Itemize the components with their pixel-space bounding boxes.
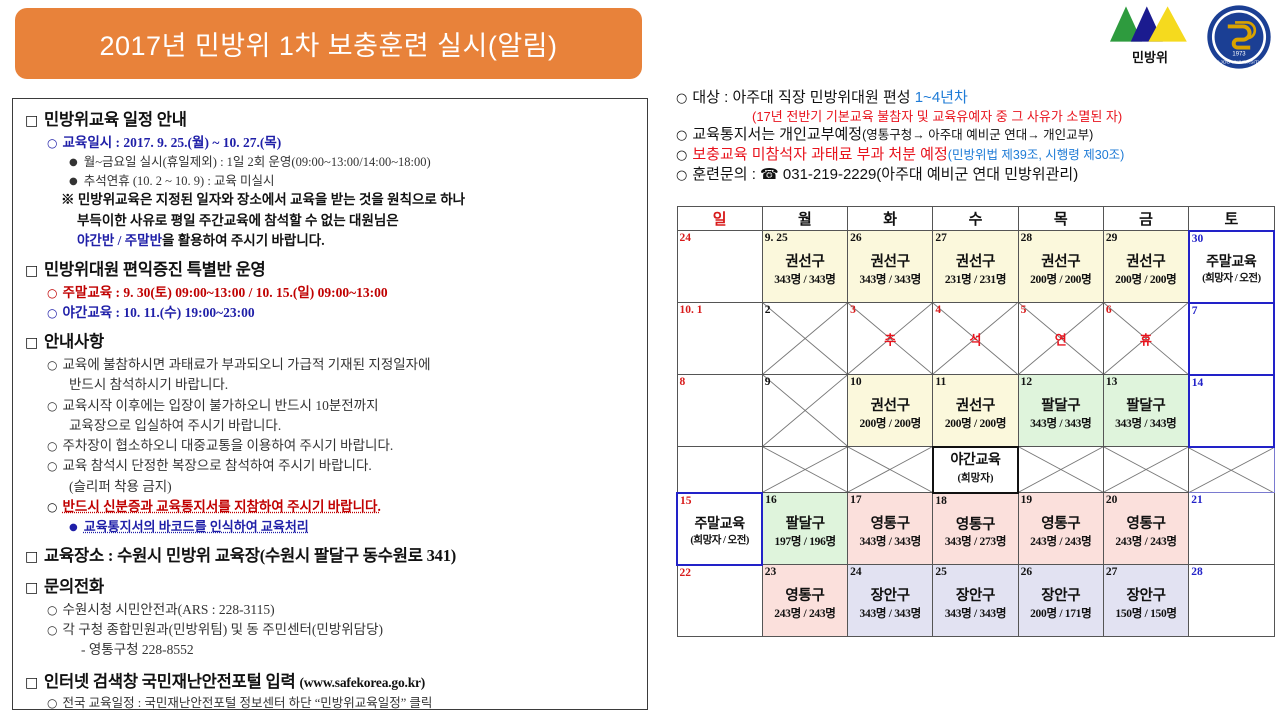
calendar-day-cell[interactable]: 14 [1189,375,1274,447]
day-number: 10 [850,375,862,389]
square-bullet-icon: □ [25,335,38,351]
crossed-out-icon [763,303,847,374]
day-content: 팔달구343명 / 343명 [1104,397,1188,432]
day-content: 영통구243명 / 243명 [763,587,847,622]
weekend-class-label: 주말교육 [678,516,761,535]
day-content: 권선구200명 / 200명 [1104,253,1188,288]
attendance-count: 343명 / 343명 [848,273,932,288]
attendance-count: 200명 / 200명 [933,417,1017,432]
attendance-count: 200명 / 200명 [1104,273,1188,288]
square-bullet-icon: □ [25,580,38,596]
calendar-day-cell[interactable]: 16팔달구197명 / 196명 [762,493,847,565]
schedule-date-line: ○교육일시 : 2017. 9. 25.(월) ~ 10. 27.(목) [47,133,637,153]
calendar-subrow-cell[interactable] [1103,447,1188,493]
day-content: 팔달구197명 / 196명 [763,515,847,550]
district-name: 영통구 [1019,515,1103,535]
day-number: 29 [1106,231,1118,245]
district-name: 권선구 [848,397,932,417]
section-venue: □교육장소 : 수원시 민방위 교육장(수원시 팔달구 동수원로 341) [25,543,637,569]
calendar-table: 일 월 화 수 목 금 토 249. 25권선구343명 / 343명26권선구… [676,206,1275,637]
weekday-header-thu: 목 [1018,207,1103,231]
attendance-count: 231명 / 231명 [933,273,1017,288]
district-name: 영통구 [1104,515,1188,535]
district-name: 팔달구 [1104,397,1188,417]
schedule-weekday-line: ●월~금요일 실시(휴일제외) : 1일 2회 운영(09:00~13:00/1… [69,153,637,172]
calendar-day-cell[interactable]: 26권선구343명 / 343명 [848,231,933,303]
section-heading: □민방위대원 편익증진 특별반 운영 [25,257,637,283]
calendar-subrow-cell[interactable]: 야간교육(희망자) [933,447,1018,493]
left-column: 2017년 민방위 1차 보충훈련 실시(알림) □민방위교육 일정 안내 ○교… [0,0,668,720]
circle-bullet-icon: ○ [47,696,57,710]
day-number: 24 [680,231,692,245]
contact-city-hall: ○수원시청 시민안전과(ARS : 228-3115) [47,600,637,620]
attendance-count: 243명 / 243명 [763,607,847,622]
district-name: 권선구 [1104,253,1188,273]
circle-bullet-icon: ○ [47,306,57,320]
day-number: 20 [1106,493,1118,507]
calendar-day-cell[interactable]: 23영통구243명 / 243명 [762,565,847,637]
calendar-header-row: 일 월 화 수 목 금 토 [677,207,1274,231]
calendar-day-cell[interactable]: 4석 [933,303,1018,375]
day-content: 장안구150명 / 150명 [1104,587,1188,622]
day-number: 27 [1106,565,1118,579]
calendar-day-cell[interactable]: 10권선구200명 / 200명 [848,375,933,447]
weekend-class-note: (희망자 / 오전) [1190,272,1273,286]
circle-bullet-icon: ○ [676,91,687,106]
bullet-inquiry: ○훈련문의 : ☎ 031-219-2229(아주대 예비군 연대 민방위관리) [676,165,1276,185]
calendar-day-cell[interactable]: 5연 [1018,303,1103,375]
calendar-subrow-cell[interactable] [762,447,847,493]
calendar-week-row: 8910권선구200명 / 200명11권선구200명 / 200명12팔달구3… [677,375,1274,447]
day-number: 16 [765,493,777,507]
section-schedule: □민방위교육 일정 안내 ○교육일시 : 2017. 9. 25.(월) ~ 1… [25,107,637,251]
calendar-day-cell[interactable]: 6휴 [1103,303,1188,375]
day-number: 7 [1192,304,1198,318]
district-name: 권선구 [763,253,847,273]
district-name: 권선구 [933,397,1017,417]
day-content: 권선구231명 / 231명 [933,253,1017,288]
target-years: 1~4년차 [915,89,968,106]
internet-schedule-line: ○전국 교육일정 : 국민재난안전포털 정보센터 하단 “민방위교육일정” 클릭 [47,694,637,713]
calendar-day-cell[interactable]: 18영통구343명 / 273명 [933,493,1018,565]
attendance-count: 200명 / 200명 [848,417,932,432]
schedule-note-1: ※ 민방위교육은 지정된 일자와 장소에서 교육을 받는 것을 원칙으로 하나 [61,190,637,210]
calendar-day-cell[interactable]: 27권선구231명 / 231명 [933,231,1018,303]
calendar-day-cell[interactable]: 13팔달구343명 / 343명 [1103,375,1188,447]
calendar-day-cell[interactable]: 12팔달구343명 / 343명 [1018,375,1103,447]
square-bullet-icon: □ [25,675,38,691]
delivery-route: (영통구청→ 아주대 예비군 연대→ 개인교부) [862,128,1093,142]
day-number: 30 [1192,232,1204,246]
ajou-university-logo: 1973 AJOU UNIVERSITY [1206,4,1272,70]
calendar-day-cell[interactable]: 7 [1189,303,1274,375]
circle-bullet-icon: ○ [47,439,57,453]
square-bullet-icon: □ [25,263,38,279]
day-number: 28 [1191,565,1203,579]
crossed-out-icon [848,447,932,492]
day-number: 24 [850,565,862,579]
calendar-day-cell[interactable]: 27장안구150명 / 150명 [1103,565,1188,637]
weekday-header-wed: 수 [933,207,1018,231]
day-content: 영통구343명 / 273명 [933,516,1017,551]
calendar-day-cell[interactable]: 2 [762,303,847,375]
guidance-line-3: ○주차장이 협소하오니 대중교통을 이용하여 주시기 바랍니다. [47,436,637,456]
training-calendar: 일 월 화 수 목 금 토 249. 25권선구343명 / 343명26권선구… [676,206,1275,637]
circle-bullet-icon: ○ [47,358,57,372]
day-number: 28 [1021,231,1033,245]
calendar-week-row: 15주말교육(희망자 / 오전)16팔달구197명 / 196명17영통구343… [677,493,1274,565]
day-content: 권선구200명 / 200명 [1019,253,1103,288]
night-class-box: 야간교육(희망자) [934,448,1017,492]
calendar-body: 249. 25권선구343명 / 343명26권선구343명 / 343명27권… [677,231,1274,637]
guidance-line-4-cont: (슬리퍼 착용 금지) [69,477,637,497]
calendar-day-cell[interactable]: 26장안구200명 / 171명 [1018,565,1103,637]
day-number: 21 [1191,493,1203,507]
section-contact: □문의전화 ○수원시청 시민안전과(ARS : 228-3115) ○각 구청 … [25,574,637,660]
fine-text: 보충교육 미참석자 과태료 부과 처분 예정 [692,146,947,163]
day-content: 장안구200명 / 171명 [1019,587,1103,622]
calendar-day-cell[interactable]: 11권선구200명 / 200명 [933,375,1018,447]
crossed-out-icon [763,447,847,492]
weekday-header-sat: 토 [1189,207,1274,231]
square-bullet-icon: □ [25,549,38,565]
dot-bullet-icon: ● [69,176,78,187]
circle-bullet-icon: ○ [676,148,687,163]
district-name: 영통구 [933,516,1017,536]
contact-yeongtong: - 영통구청 228-8552 [81,640,637,660]
day-number: 14 [1192,376,1204,390]
calendar-week-row: 2223영통구243명 / 243명24장안구343명 / 343명25장안구3… [677,565,1274,637]
calendar-subrow-cell[interactable] [1189,447,1274,493]
day-number: 9 [765,375,771,389]
day-content: 장안구343명 / 343명 [933,587,1017,622]
day-number: 15 [680,494,692,508]
district-name: 팔달구 [1019,397,1103,417]
circle-bullet-icon: ○ [47,399,57,413]
title-banner: 2017년 민방위 1차 보충훈련 실시(알림) [15,8,642,79]
day-content: 권선구343명 / 343명 [763,253,847,288]
day-content: 영통구243명 / 243명 [1104,515,1188,550]
district-name: 장안구 [1019,587,1103,607]
circle-bullet-icon: ○ [47,623,57,637]
day-content: 영통구343명 / 343명 [848,515,932,550]
dot-bullet-icon: ● [69,157,78,168]
weekend-class-line: ○주말교육 : 9. 30(토) 09:00~13:00 / 10. 15.(일… [47,283,637,303]
calendar-day-cell[interactable]: 19영통구243명 / 243명 [1018,493,1103,565]
attendance-count: 343명 / 343명 [1019,417,1103,432]
guidance-line-2-cont: 교육장으로 입실하여 주시기 바랍니다. [69,416,637,436]
day-content: 권선구343명 / 343명 [848,253,932,288]
day-number: 8 [680,375,686,389]
night-weekend-class-emphasis: 야간반 / 주말반 [77,233,162,248]
district-name: 장안구 [848,587,932,607]
circle-bullet-icon: ○ [47,500,57,514]
day-number: 22 [680,566,692,580]
bullet-fine-notice: ○보충교육 미참석자 과태료 부과 처분 예정(민방위법 제39조, 시행령 제… [676,145,1276,165]
dot-bullet-icon: ● [69,522,78,533]
safekorea-url[interactable]: (www.safekorea.go.kr) [299,675,425,690]
day-content: 권선구200명 / 200명 [933,397,1017,432]
bullet-target-sub: (17년 전반기 기본교육 불참자 및 교육유예자 중 그 사유가 소멸된 자) [752,108,1276,126]
ajou-year: 1973 [1232,51,1246,57]
attendance-count: 197명 / 196명 [763,535,847,550]
day-content: 팔달구343명 / 343명 [1019,397,1103,432]
day-number: 3 [850,303,856,317]
day-content: 장안구343명 / 343명 [848,587,932,622]
district-name: 권선구 [933,253,1017,273]
notice-box: □민방위교육 일정 안내 ○교육일시 : 2017. 9. 25.(월) ~ 1… [12,98,648,710]
attendance-count: 243명 / 243명 [1104,535,1188,550]
district-name: 장안구 [933,587,1017,607]
contact-district-office: ○각 구청 종합민원과(민방위팀) 및 동 주민센터(민방위담당) [47,620,637,640]
weekend-class-label: 주말교육 [1190,254,1273,273]
guidance-line-5: ○반드시 신분증과 교육통지서를 지참하여 주시기 바랍니다. [47,497,637,517]
ajou-name-en: AJOU UNIVERSITY [1217,59,1262,65]
day-number: 2 [765,303,771,317]
circle-bullet-icon: ○ [676,168,687,183]
crossed-out-icon [763,375,847,446]
attendance-count: 150명 / 150명 [1104,607,1188,622]
calendar-day-cell[interactable]: 20영통구243명 / 243명 [1103,493,1188,565]
weekend-class-note: (희망자 / 오전) [678,534,761,548]
day-number: 10. 1 [680,303,703,317]
weekday-header-tue: 화 [848,207,933,231]
district-name: 권선구 [1019,253,1103,273]
day-number: 18 [935,494,947,508]
crossed-out-icon [1019,447,1103,492]
poster-page: 2017년 민방위 1차 보충훈련 실시(알림) □민방위교육 일정 안내 ○교… [0,0,1280,720]
holiday-char: 석 [933,329,1017,348]
attendance-count: 200명 / 171명 [1019,607,1103,622]
attendance-count: 243명 / 243명 [1019,535,1103,550]
day-number: 23 [765,565,777,579]
calendar-day-cell[interactable]: 10. 1 [677,303,762,375]
day-content: 권선구200명 / 200명 [848,397,932,432]
calendar-week-row: 10. 123추4석5연6휴7 [677,303,1274,375]
square-bullet-icon: □ [25,113,38,129]
calendar-day-cell[interactable]: 15주말교육(희망자 / 오전) [677,493,762,565]
day-number: 19 [1021,493,1033,507]
mountains-icon [1110,2,1190,46]
calendar-day-cell[interactable]: 28 [1189,565,1274,637]
day-number: 26 [1021,565,1033,579]
calendar-subrow: 야간교육(희망자) [677,447,1274,493]
day-number: 26 [850,231,862,245]
day-number: 6 [1106,303,1112,317]
calendar-subrow-cell[interactable] [677,447,762,493]
guidance-line-2: ○교육시작 이후에는 입장이 불가하오니 반드시 10분전까지 [47,396,637,416]
day-number: 12 [1021,375,1033,389]
district-name: 팔달구 [763,515,847,535]
day-number: 17 [850,493,862,507]
district-name: 장안구 [1104,587,1188,607]
calendar-day-cell[interactable]: 8 [677,375,762,447]
schedule-note-2: 부득이한 사유로 평일 주간교육에 참석할 수 없는 대원님은 [61,211,637,231]
right-column: 민방위 1973 AJOU UNIVERSITY ○대상 : 아주대 직장 민방… [668,0,1280,720]
guidance-line-4: ○교육 참석시 단정한 복장으로 참석하여 주시기 바랍니다. [47,456,637,476]
bullet-notice-delivery: ○교육통지서는 개인교부예정(영통구청→ 아주대 예비군 연대→ 개인교부) [676,125,1276,145]
crossed-out-icon [1189,448,1273,493]
notice-bullets: ○대상 : 아주대 직장 민방위대원 편성 1~4년차 (17년 전반기 기본교… [676,88,1276,185]
section-internet: □인터넷 검색창 국민재난안전포털 입력 (www.safekorea.go.k… [25,669,637,713]
weekday-header-fri: 금 [1103,207,1188,231]
civil-defense-logo: 민방위 [1108,2,1192,66]
district-name: 영통구 [848,515,932,535]
day-number: 13 [1106,375,1118,389]
day-number: 9. 25 [765,231,788,245]
calendar-day-cell[interactable]: 3추 [848,303,933,375]
calendar-subrow-cell[interactable] [1018,447,1103,493]
logo-group: 민방위 1973 AJOU UNIVERSITY [1108,2,1272,82]
internet-heading: □인터넷 검색창 국민재난안전포털 입력 (www.safekorea.go.k… [25,669,637,695]
inquiry-phone[interactable]: 훈련문의 : ☎ 031-219-2229(아주대 예비군 연대 민방위관리) [692,166,1078,183]
calendar-day-cell[interactable]: 22 [677,565,762,637]
attendance-count: 343명 / 343명 [1104,417,1188,432]
venue-heading: □교육장소 : 수원시 민방위 교육장(수원시 팔달구 동수원로 341) [25,543,637,569]
section-special-class: □민방위대원 편익증진 특별반 운영 ○주말교육 : 9. 30(토) 09:0… [25,257,637,323]
calendar-day-cell[interactable]: 28권선구200명 / 200명 [1018,231,1103,303]
guidance-line-1: ○교육에 불참하시면 과태료가 부과되오니 가급적 기재된 지정일자에 [47,355,637,375]
calendar-day-cell[interactable]: 29권선구200명 / 200명 [1103,231,1188,303]
section-heading: □문의전화 [25,574,637,600]
fine-law-ref: (민방위법 제39조, 시행령 제30조) [948,148,1125,162]
attendance-count: 343명 / 343명 [848,607,932,622]
day-number: 11 [935,375,946,389]
attendance-count: 343명 / 343명 [933,607,1017,622]
attendance-count: 200명 / 200명 [1019,273,1103,288]
attendance-count: 343명 / 273명 [933,535,1017,550]
day-number: 25 [935,565,947,579]
day-content: 주말교육(희망자 / 오전) [678,516,761,549]
calendar-day-cell[interactable]: 24장안구343명 / 343명 [848,565,933,637]
circle-bullet-icon: ○ [676,128,687,143]
section-heading: □민방위교육 일정 안내 [25,107,637,133]
section-guidance: □안내사항 ○교육에 불참하시면 과태료가 부과되오니 가급적 기재된 지정일자… [25,329,637,536]
circle-bullet-icon: ○ [47,136,57,150]
attendance-count: 343명 / 343명 [848,535,932,550]
calendar-day-cell[interactable]: 24 [677,231,762,303]
night-class-label: 야간교육 [950,453,1000,470]
district-name: 권선구 [848,253,932,273]
guidance-line-1-cont: 반드시 참석하시기 바랍니다. [69,375,637,395]
attendance-count: 343명 / 343명 [763,273,847,288]
section-heading: □안내사항 [25,329,637,355]
civil-defense-label: 민방위 [1132,47,1168,66]
circle-bullet-icon: ○ [47,603,57,617]
weekday-header-mon: 월 [762,207,847,231]
calendar-day-cell[interactable]: 25장안구343명 / 343명 [933,565,1018,637]
calendar-day-cell[interactable]: 17영통구343명 / 343명 [848,493,933,565]
night-class-note: (희망자) [957,472,993,486]
day-number: 27 [935,231,947,245]
calendar-subrow-cell[interactable] [848,447,933,493]
calendar-day-cell[interactable]: 9. 25권선구343명 / 343명 [762,231,847,303]
day-content: 주말교육(희망자 / 오전) [1190,254,1273,287]
circle-bullet-icon: ○ [47,286,57,300]
holiday-char: 추 [848,329,932,348]
page-title: 2017년 민방위 1차 보충훈련 실시(알림) [100,24,558,63]
day-number: 4 [935,303,941,317]
day-number: 5 [1021,303,1027,317]
bullet-target: ○대상 : 아주대 직장 민방위대원 편성 1~4년차 [676,88,1276,108]
holiday-char: 휴 [1104,329,1188,348]
day-content: 영통구243명 / 243명 [1019,515,1103,550]
holiday-char: 연 [1019,329,1103,348]
weekday-header-sun: 일 [677,207,762,231]
calendar-day-cell[interactable]: 21 [1189,493,1274,565]
district-name: 영통구 [763,587,847,607]
circle-bullet-icon: ○ [47,459,57,473]
calendar-week-row: 249. 25권선구343명 / 343명26권선구343명 / 343명27권… [677,231,1274,303]
calendar-day-cell[interactable]: 9 [762,375,847,447]
schedule-note-3: 야간반 / 주말반을 활용하여 주시기 바랍니다. [61,231,637,251]
guidance-barcode-line: ●교육통지서의 바코드를 인식하여 교육처리 [69,517,637,537]
night-class-line: ○야간교육 : 10. 11.(수) 19:00~23:00 [47,303,637,323]
calendar-day-cell[interactable]: 30주말교육(희망자 / 오전) [1189,231,1274,303]
schedule-chuseok-line: ●추석연휴 (10. 2 ~ 10. 9) : 교육 미실시 [69,172,637,191]
crossed-out-icon [1104,447,1188,492]
